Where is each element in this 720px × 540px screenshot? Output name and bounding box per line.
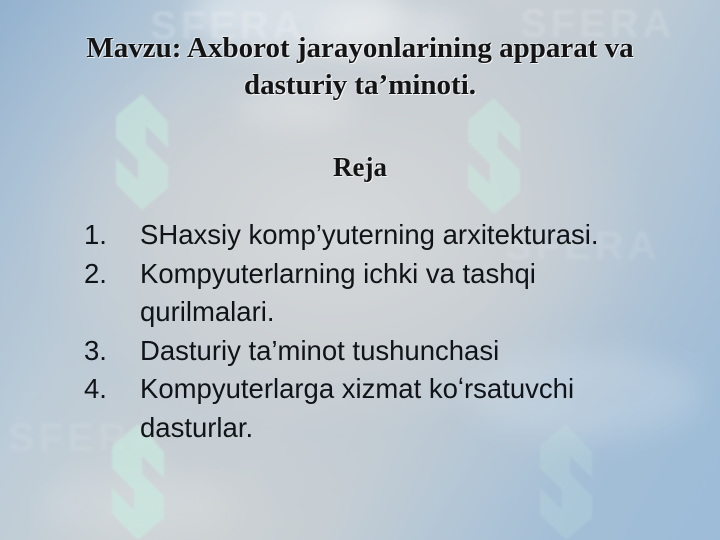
list-item: 4. Kompyuterlarga xizmat koʻrsatuvchi da…	[84, 370, 674, 447]
slide-title: Mavzu: Axborot jarayonlarining apparat v…	[42, 30, 678, 104]
presentation-slide: SFERA SFERA SFERA SFERA Mavzu: Axborot j…	[0, 0, 720, 540]
slide-content: Mavzu: Axborot jarayonlarining apparat v…	[0, 0, 720, 540]
list-item-label: Kompyuterlarga xizmat koʻrsatuvchi dastu…	[140, 370, 674, 447]
list-item: 3. Dasturiy ta’minot tushunchasi	[84, 332, 674, 371]
slide-subtitle: Reja	[42, 152, 678, 183]
list-item-label: Dasturiy ta’minot tushunchasi	[140, 332, 674, 371]
list-item-number: 4.	[84, 370, 140, 409]
list-item-number: 3.	[84, 332, 140, 371]
list-item: 2. Kompyuterlarning ichki va tashqi quri…	[84, 255, 674, 332]
list-item-label: SHaxsiy komp’yuterning arxitekturasi.	[140, 216, 674, 255]
list-item: 1. SHaxsiy komp’yuterning arxitekturasi.	[84, 216, 674, 255]
list-item-number: 2.	[84, 255, 140, 294]
agenda-list: 1. SHaxsiy komp’yuterning arxitekturasi.…	[84, 216, 674, 447]
list-item-number: 1.	[84, 216, 140, 255]
list-item-label: Kompyuterlarning ichki va tashqi qurilma…	[140, 255, 674, 332]
